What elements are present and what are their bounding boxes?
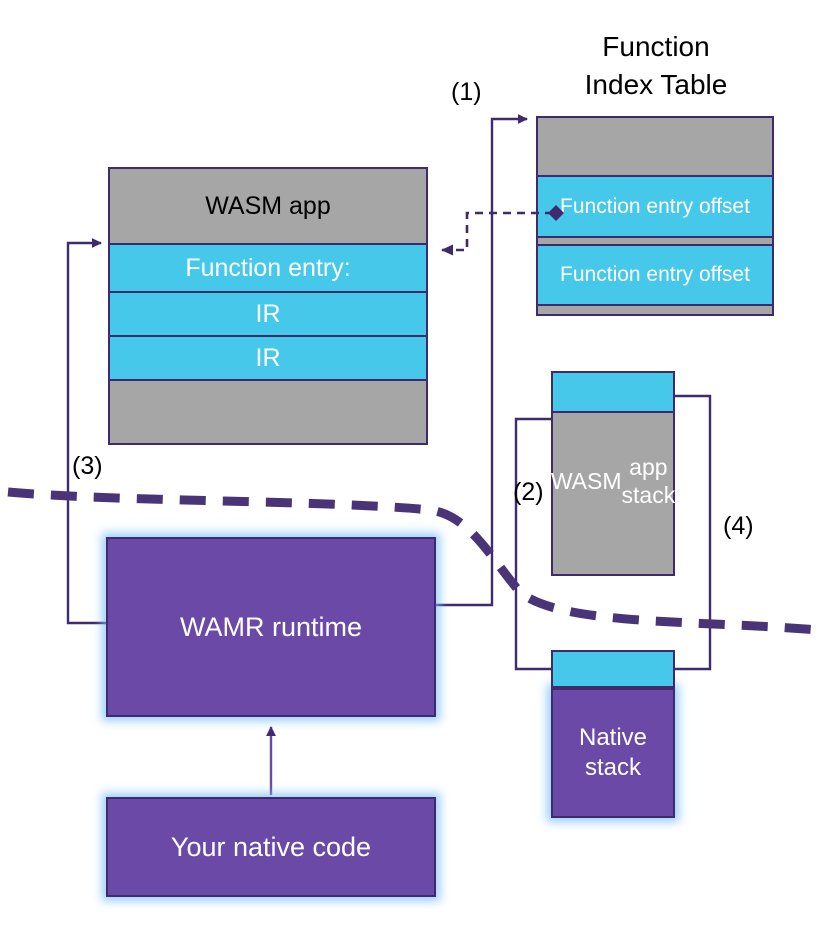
overlay-lines bbox=[0, 0, 819, 925]
diagram-canvas: WASM app Function entry: IR IR Function … bbox=[0, 0, 819, 925]
managed-native-boundary-curve bbox=[8, 492, 818, 630]
connector-offset-to-function-entry bbox=[442, 205, 564, 250]
diamond-endpoint-function-entry-offset bbox=[548, 205, 564, 221]
